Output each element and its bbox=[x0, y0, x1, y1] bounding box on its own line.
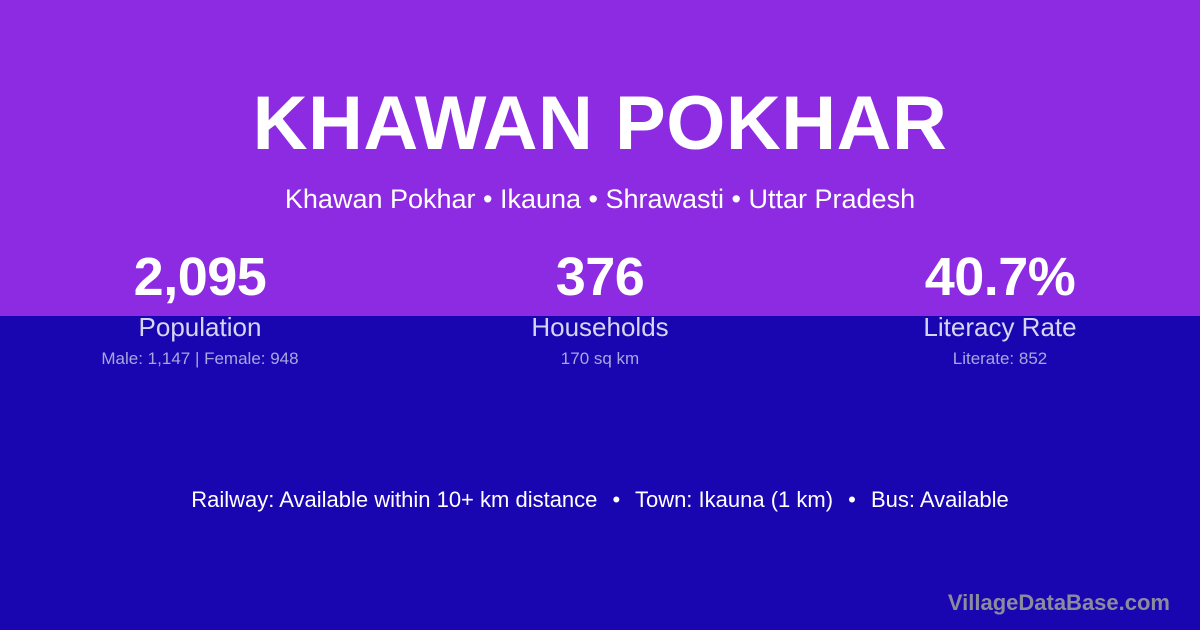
stat-sublabel: Literate: 852 bbox=[800, 349, 1200, 369]
stat-population: 2,095 Population Male: 1,147 | Female: 9… bbox=[0, 248, 400, 369]
infra-railway: Railway: Available within 10+ km distanc… bbox=[191, 487, 597, 512]
stat-sublabel: Male: 1,147 | Female: 948 bbox=[0, 349, 400, 369]
infrastructure-summary: Railway: Available within 10+ km distanc… bbox=[0, 487, 1200, 513]
infra-bus: Bus: Available bbox=[871, 487, 1009, 512]
stat-value: 376 bbox=[400, 248, 800, 306]
infra-town: Town: Ikauna (1 km) bbox=[635, 487, 833, 512]
stat-households: 376 Households 170 sq km bbox=[400, 248, 800, 369]
village-info-card: KHAWAN POKHAR Khawan Pokhar • Ikauna • S… bbox=[0, 0, 1200, 630]
infra-separator-icon: • bbox=[839, 487, 865, 513]
stat-literacy-rate: 40.7% Literacy Rate Literate: 852 bbox=[800, 248, 1200, 369]
stat-label: Households bbox=[400, 312, 800, 342]
stat-sublabel: 170 sq km bbox=[400, 349, 800, 369]
stats-row: 2,095 Population Male: 1,147 | Female: 9… bbox=[0, 248, 1200, 369]
stat-label: Population bbox=[0, 312, 400, 342]
stat-value: 40.7% bbox=[800, 248, 1200, 306]
stat-value: 2,095 bbox=[0, 248, 400, 306]
stat-label: Literacy Rate bbox=[800, 312, 1200, 342]
site-brand-watermark: VillageDataBase.com bbox=[948, 590, 1170, 616]
page-title: KHAWAN POKHAR bbox=[0, 86, 1200, 162]
breadcrumb: Khawan Pokhar • Ikauna • Shrawasti • Utt… bbox=[0, 183, 1200, 215]
infra-separator-icon: • bbox=[604, 487, 630, 513]
